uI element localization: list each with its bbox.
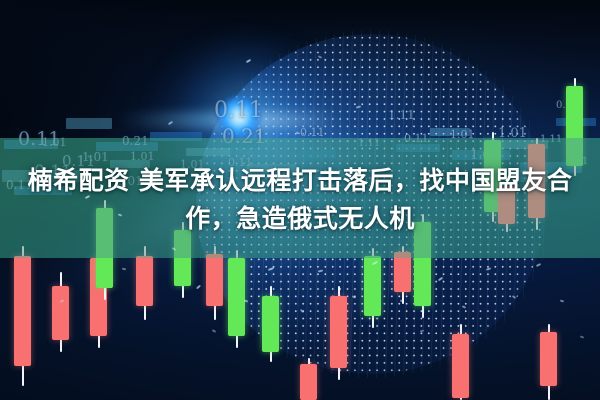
particle-speck — [122, 268, 126, 271]
particle-speck — [196, 285, 201, 290]
headline-text: 楠希配资 美军承认远程打击落后，找中国盟友合作，急造俄式无人机 — [28, 166, 573, 233]
news-banner-image: 0.110.111.010.110.210.111.111.110.111.01… — [0, 0, 600, 400]
particle-speck — [536, 263, 541, 267]
particle-speck — [268, 267, 274, 271]
particle-speck — [212, 329, 216, 333]
particle-speck — [244, 299, 248, 302]
particle-speck — [512, 295, 516, 299]
particle-speck — [462, 305, 466, 308]
particle-speck — [60, 299, 64, 302]
particle-speck — [372, 261, 378, 266]
particle-speck — [318, 269, 323, 272]
particle-speck — [560, 299, 564, 302]
particle-speck — [420, 329, 424, 332]
particle-speck — [486, 267, 491, 271]
particle-speck — [352, 295, 356, 299]
particle-speck — [300, 309, 304, 313]
headline: 楠希配资 美军承认远程打击落后，找中国盟友合作，急造俄式无人机 — [0, 162, 600, 238]
particle-speck — [172, 247, 176, 251]
particle-speck — [356, 105, 361, 108]
particle-speck — [318, 55, 322, 58]
particle-speck — [246, 59, 251, 63]
particle-speck — [168, 121, 173, 125]
particle-speck — [580, 335, 584, 338]
particle-speck — [400, 299, 404, 302]
particle-speck — [296, 131, 300, 134]
particle-speck — [438, 277, 443, 282]
